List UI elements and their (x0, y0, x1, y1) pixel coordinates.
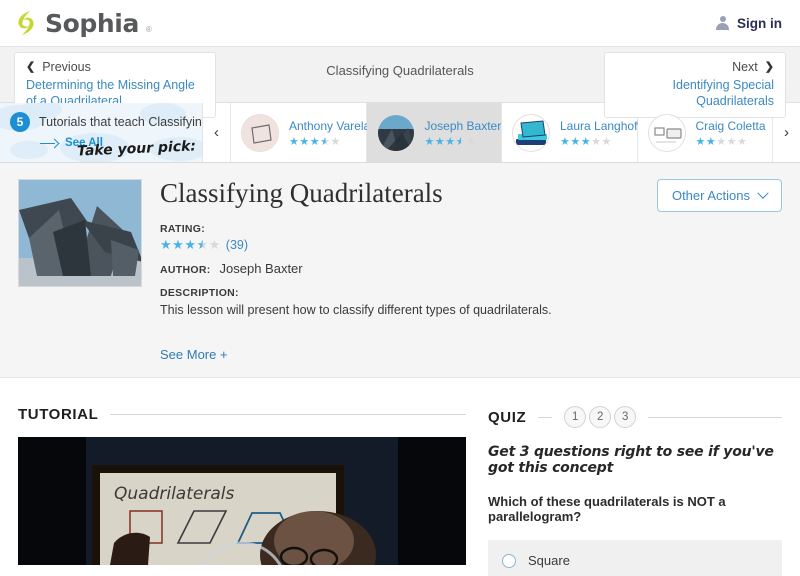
lesson-rating: ★★★★★ (39) (160, 237, 639, 253)
tutorial-rating-stars: ★★★★★ (696, 136, 748, 148)
lesson-author: AUTHOR: Joseph Baxter (160, 261, 639, 278)
lesson-info-section: Classifying Quadrilaterals RATING: ★★★★★… (0, 163, 800, 378)
quiz-step-3[interactable]: 3 (614, 406, 636, 428)
other-actions-label: Other Actions (672, 188, 750, 203)
quiz-column: QUIZ 1 2 3 Get 3 questions right to see … (488, 406, 782, 576)
quiz-instruction-note: Get 3 questions right to see if you've g… (488, 444, 782, 476)
brand-name: Sophia (45, 9, 139, 38)
tutorial-column: TUTORIAL Quadrilaterals (18, 406, 466, 576)
sophia-leaf-icon (14, 9, 38, 37)
tutorial-author-name: Craig Coletta (696, 119, 766, 133)
page-title: Classifying Quadrilaterals (160, 179, 639, 209)
tutorial-video-player[interactable]: Quadrilaterals (18, 437, 466, 565)
tutorial-rating-stars: ★★★★★ (289, 136, 341, 148)
other-actions-button[interactable]: Other Actions (657, 179, 782, 212)
person-icon (715, 16, 730, 31)
avatar (512, 114, 550, 152)
quiz-answer-label: Square (528, 553, 570, 568)
next-label: Next (732, 59, 758, 76)
rating-label: RATING: (160, 223, 639, 235)
brand-trademark: ® (146, 25, 152, 34)
description-label: DESCRIPTION: (160, 287, 639, 299)
tutorial-count-badge: 5 (10, 112, 30, 132)
divider (110, 414, 466, 415)
tutorial-author-name: Anthony Varela (289, 119, 370, 133)
divider (538, 417, 552, 418)
quiz-step-indicator: 1 2 3 (564, 406, 636, 428)
avatar (648, 114, 686, 152)
sign-in-button[interactable]: Sign in (715, 16, 782, 31)
tutorial-section-header: TUTORIAL (18, 406, 466, 423)
quiz-heading: QUIZ (488, 409, 526, 426)
next-kicker: Next ❯ (616, 59, 774, 76)
radio-button-icon[interactable] (502, 554, 516, 568)
tutorial-rating-stars: ★★★★★ (425, 136, 477, 148)
chevron-right-icon: ❯ (765, 62, 774, 73)
next-lesson-link[interactable]: Identifying Special Quadrilaterals (616, 77, 774, 110)
tutorial-author-name: Joseph Baxter (425, 119, 502, 133)
tutorial-card-anthony-varela[interactable]: Anthony Varela ★★★★★ (231, 103, 367, 162)
chevron-down-icon (757, 187, 768, 198)
brand-logo[interactable]: Sophia ® (14, 9, 152, 38)
content-columns: TUTORIAL Quadrilaterals (0, 378, 800, 576)
next-lesson-card[interactable]: Next ❯ Identifying Special Quadrilateral… (604, 52, 786, 118)
arrow-right-icon (40, 139, 60, 148)
author-name: Joseph Baxter (220, 261, 303, 276)
quiz-section-header: QUIZ 1 2 3 (488, 406, 782, 428)
tutorial-heading: TUTORIAL (18, 406, 98, 423)
see-more-button[interactable]: See More + (160, 347, 228, 362)
carousel-promo-panel: 5 Tutorials that teach Classifying Q See… (0, 103, 203, 162)
divider (648, 417, 782, 418)
rating-count[interactable]: (39) (226, 238, 248, 252)
author-label: AUTHOR: (160, 264, 211, 276)
svg-text:Quadrilaterals: Quadrilaterals (114, 484, 234, 504)
quiz-step-1[interactable]: 1 (564, 406, 586, 428)
avatar (377, 114, 415, 152)
sign-in-label: Sign in (737, 16, 782, 31)
quiz-question-text: Which of these quadrilaterals is NOT a p… (488, 494, 782, 524)
tutorial-card-joseph-baxter[interactable]: Joseph Baxter ★★★★★ (367, 103, 503, 162)
quiz-step-2[interactable]: 2 (589, 406, 611, 428)
lesson-details: Classifying Quadrilaterals RATING: ★★★★★… (160, 179, 639, 355)
lesson-thumbnail (18, 179, 142, 287)
quiz-answer-option-square[interactable]: Square (488, 540, 782, 576)
tutorials-promo-text: Tutorials that teach Classifying Q (39, 115, 202, 129)
lesson-navigation-bar: ❮ Previous Determining the Missing Angle… (0, 46, 800, 103)
description-text: This lesson will present how to classify… (160, 301, 639, 320)
tutorial-author-name: Laura Langhoff (560, 119, 641, 133)
lesson-rating-stars: ★★★★★ (160, 237, 221, 253)
site-header: Sophia ® Sign in (0, 0, 800, 46)
avatar (241, 114, 279, 152)
tutorial-rating-stars: ★★★★★ (560, 136, 612, 148)
